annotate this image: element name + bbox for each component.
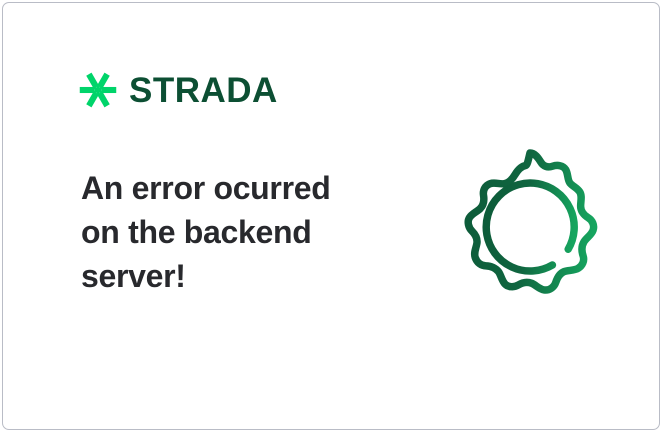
brand-wordmark: STRADA <box>129 73 278 108</box>
error-message: An error ocurred on the backend server! <box>81 166 381 298</box>
error-card: STRADA An error ocurred on the backend s… <box>2 2 660 430</box>
gear-outline-icon <box>447 143 613 309</box>
strada-asterisk-icon <box>79 71 117 109</box>
error-message-line-3: server! <box>81 254 381 298</box>
error-message-line-2: on the backend <box>81 210 381 254</box>
brand-lockup: STRADA <box>79 71 278 109</box>
error-message-line-1: An error ocurred <box>81 166 381 210</box>
